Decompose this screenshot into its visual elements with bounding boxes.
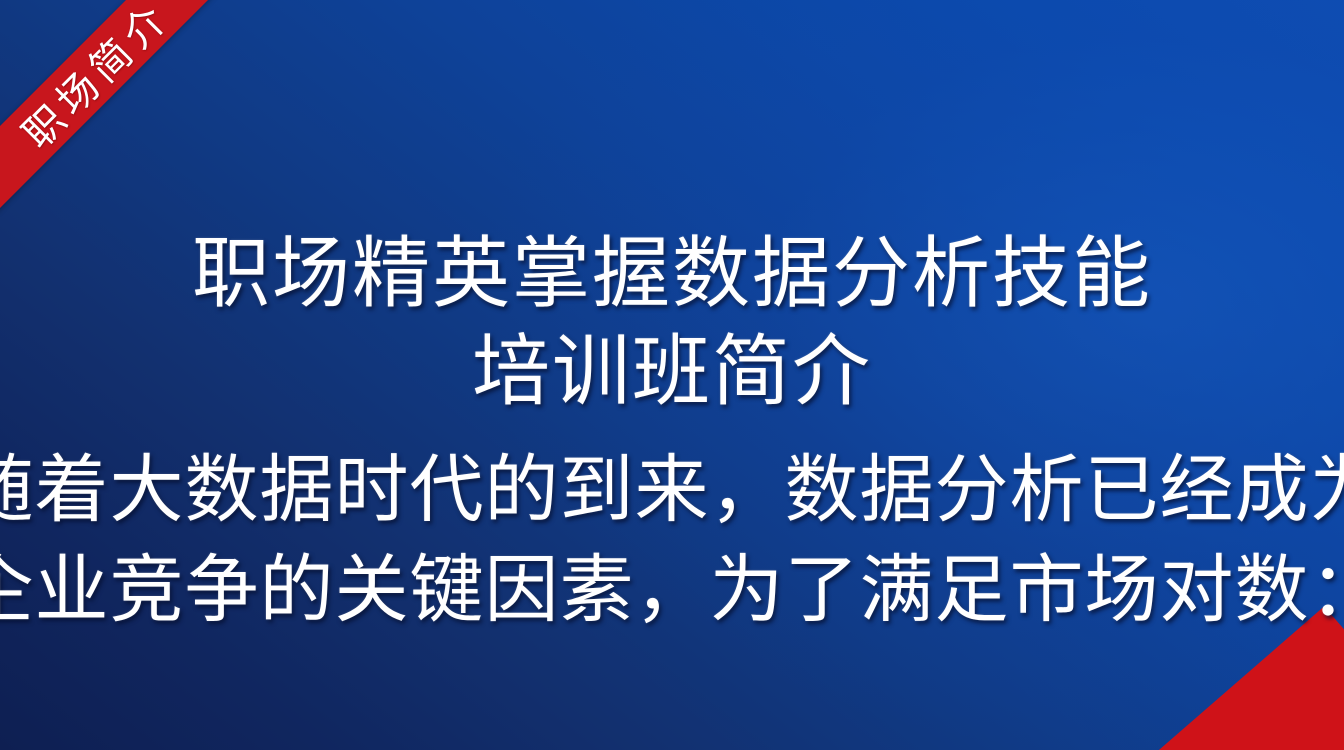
slide-title-line-1: 职场精英掌握数据分析技能 [192, 228, 1152, 320]
slide-title-line-2: 培训班简介 [472, 326, 872, 418]
slide-content: 职场精英掌握数据分析技能 培训班简介 随着大数据时代的到来，数据分析已经成为 企… [0, 0, 1344, 750]
slide-body-line-2: 企业竞争的关键因素，为了满足市场对数： [0, 548, 1344, 632]
slide-body-line-1: 随着大数据时代的到来，数据分析已经成为 [0, 448, 1344, 532]
slide-canvas: 职场简介 职场精英掌握数据分析技能 培训班简介 随着大数据时代的到来，数据分析已… [0, 0, 1344, 750]
